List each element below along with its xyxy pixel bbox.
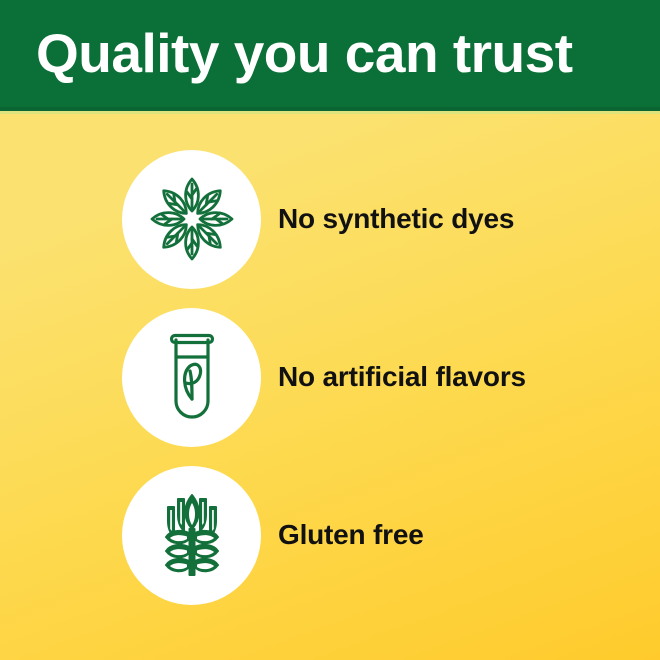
feature-badge-dyes [122,150,261,289]
quality-promo-poster: Quality you can trust [0,0,660,660]
feature-label-gluten: Gluten free [278,520,424,551]
test-tube-leaf-icon [142,327,242,427]
feature-row: No synthetic dyes [0,149,660,289]
feature-label-flavors: No artificial flavors [278,362,526,393]
feature-badge-flavors [122,308,261,447]
wheat-stalk-icon [142,485,242,585]
feature-row: Gluten free [0,465,660,605]
header-band-highlight [0,111,660,114]
feature-row: No artificial flavors [0,307,660,447]
feature-label-dyes: No synthetic dyes [278,204,514,235]
feature-badge-gluten [122,466,261,605]
page-title: Quality you can trust [36,0,573,107]
flower-rosette-icon [142,169,242,269]
